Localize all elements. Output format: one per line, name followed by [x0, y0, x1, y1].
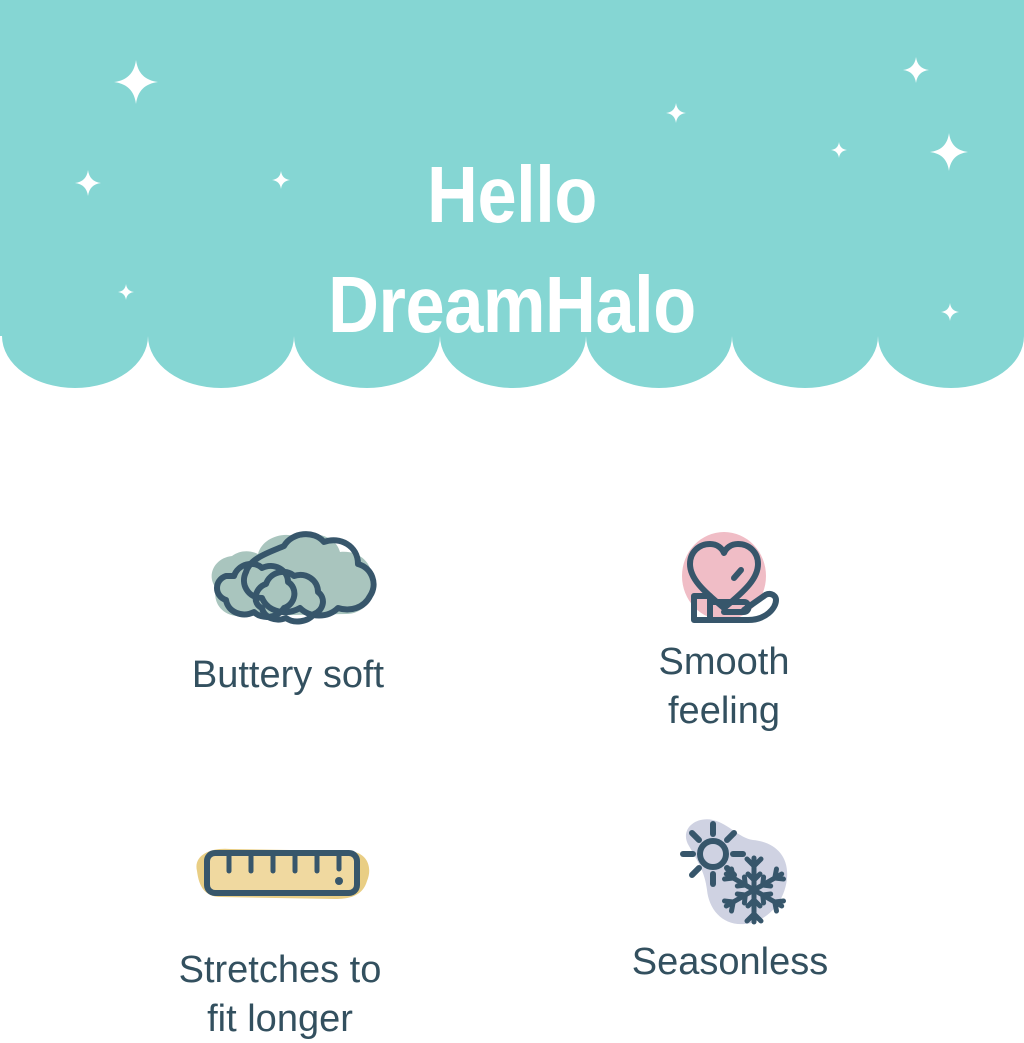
feature-item-buttery-soft: Buttery soft	[118, 525, 458, 700]
sun-and-snowflake-icon	[655, 810, 805, 934]
feature-label-smooth-feeling: Smooth feeling	[554, 638, 894, 735]
ruler-icon	[185, 837, 375, 923]
page-title: Hello DreamHalo	[0, 140, 1024, 361]
page-title-line-1: Hello	[61, 140, 962, 250]
hero-banner: Hello DreamHalo	[0, 0, 1024, 390]
feature-icon-wrap	[560, 812, 900, 932]
feature-icon-wrap	[110, 820, 450, 940]
feature-item-seasonless: Seasonless	[560, 812, 900, 987]
feature-label-seasonless: Seasonless	[560, 938, 900, 987]
feature-grid: Buttery soft Smooth feeling	[0, 400, 1024, 1019]
feature-icon-wrap	[118, 525, 458, 645]
feature-item-stretches-to-fit-longer: Stretches to fit longer	[110, 820, 450, 1043]
feature-icon-wrap	[554, 520, 894, 632]
feature-label-stretches-to-fit-longer: Stretches to fit longer	[110, 946, 450, 1043]
cloud-icon	[188, 526, 388, 644]
page-title-line-2: DreamHalo	[61, 250, 962, 360]
heart-in-hand-icon	[658, 520, 790, 632]
feature-item-smooth-feeling: Smooth feeling	[554, 520, 894, 735]
feature-label-buttery-soft: Buttery soft	[118, 651, 458, 700]
